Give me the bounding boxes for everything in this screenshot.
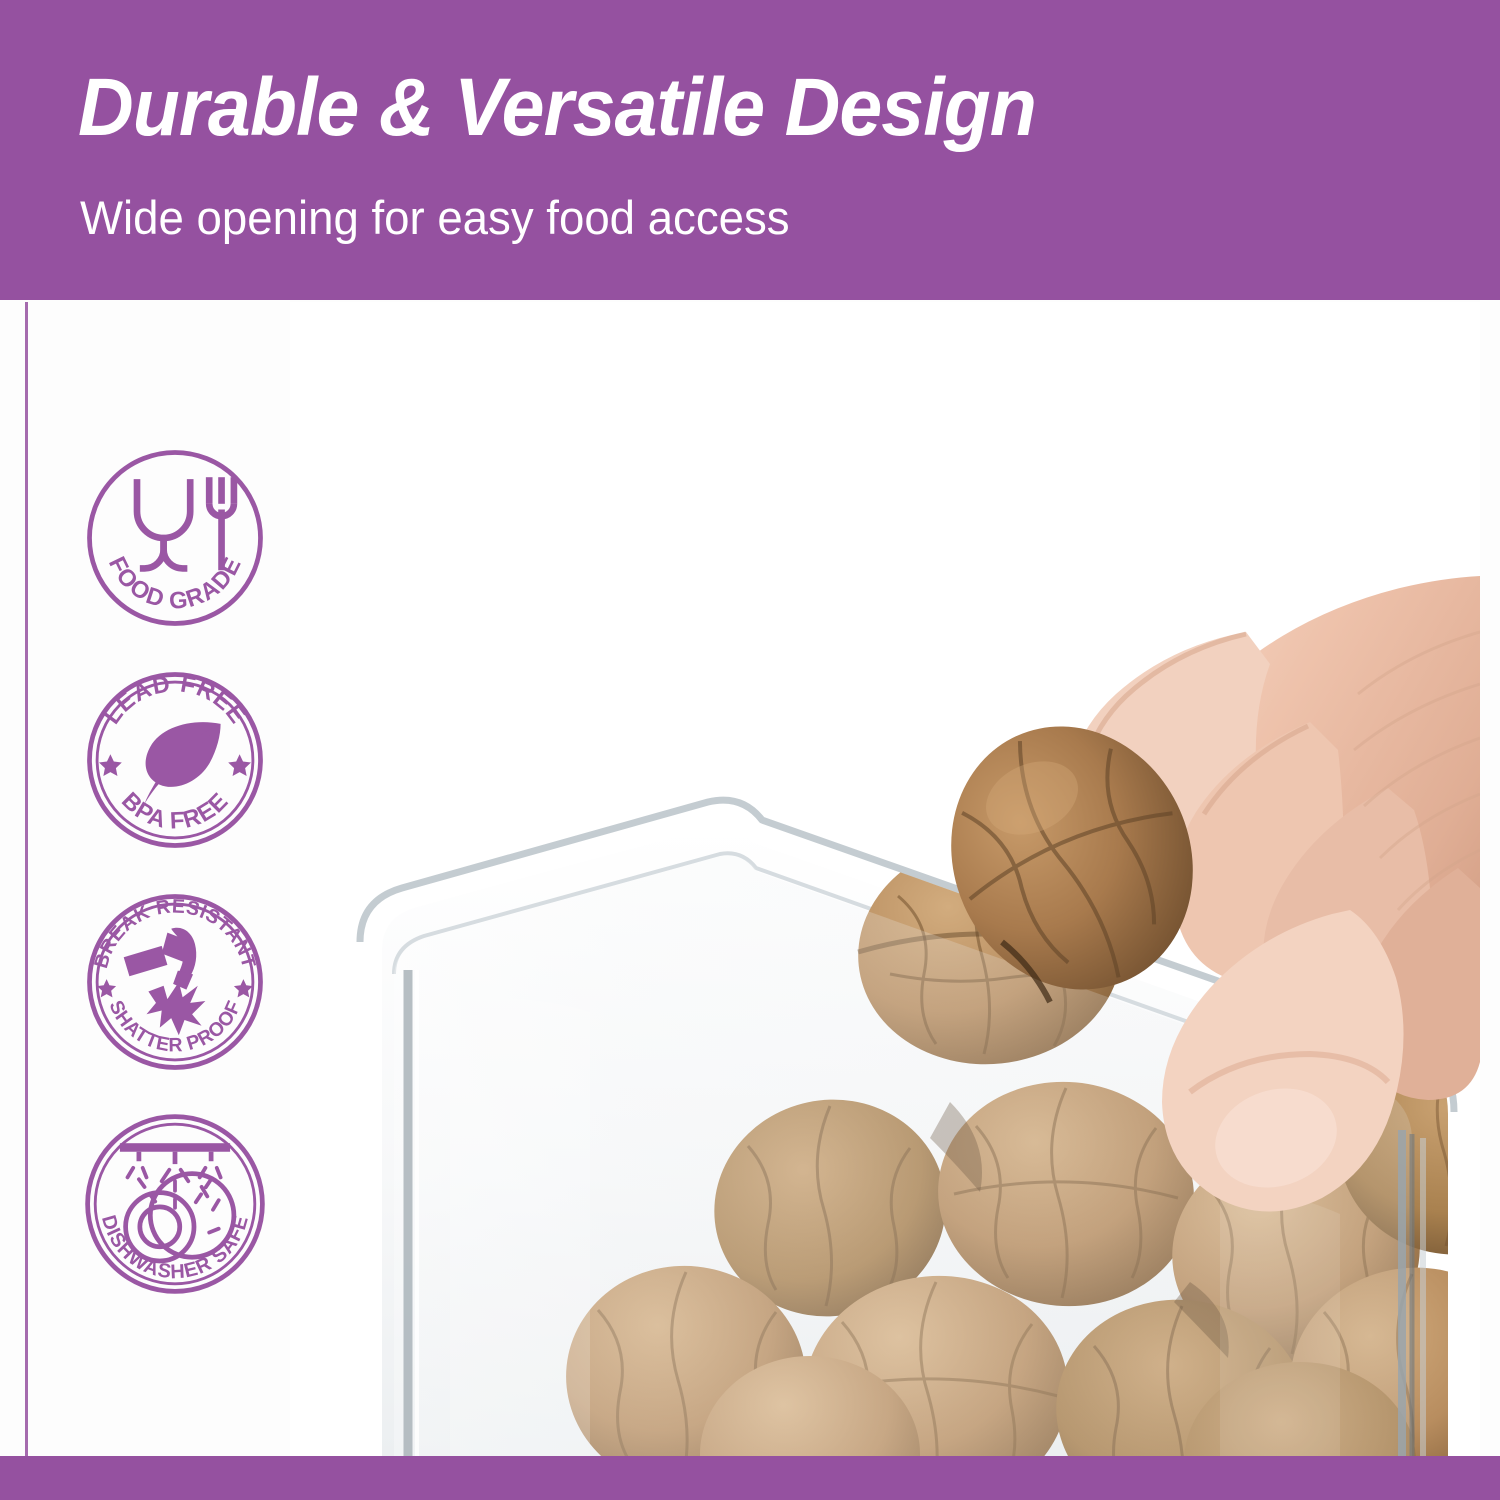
bottom-accent-bar [0,1456,1500,1500]
star-icon [228,754,251,776]
page-title: Durable & Versatile Design [78,62,1036,154]
star-icon [99,754,122,776]
badge-lead-free-top-text: LEAD FREE [98,670,251,729]
header-banner: Durable & Versatile Design Wide opening … [0,0,1500,300]
badge-lead-free-bpa-free: LEAD FREE BPA FREE [80,665,270,855]
badge-dishwasher-safe: DISHWASHER SAFE [80,1109,270,1299]
certification-badge-list: FOOD GRADE [80,443,275,1331]
page-subtitle: Wide opening for easy food access [80,190,790,246]
star-icon [234,979,253,997]
product-photo [290,302,1480,1456]
left-vertical-rule [25,302,28,1456]
star-icon [97,979,116,997]
badge-food-grade: FOOD GRADE [80,443,270,633]
product-feature-card: Durable & Versatile Design Wide opening … [0,0,1500,1500]
glass-and-fork-icon [137,477,234,570]
badge-break-resistant-shatter-proof: BREAK RESISTANT SHATTER PROOF [80,887,270,1077]
leaf-icon [145,722,221,804]
